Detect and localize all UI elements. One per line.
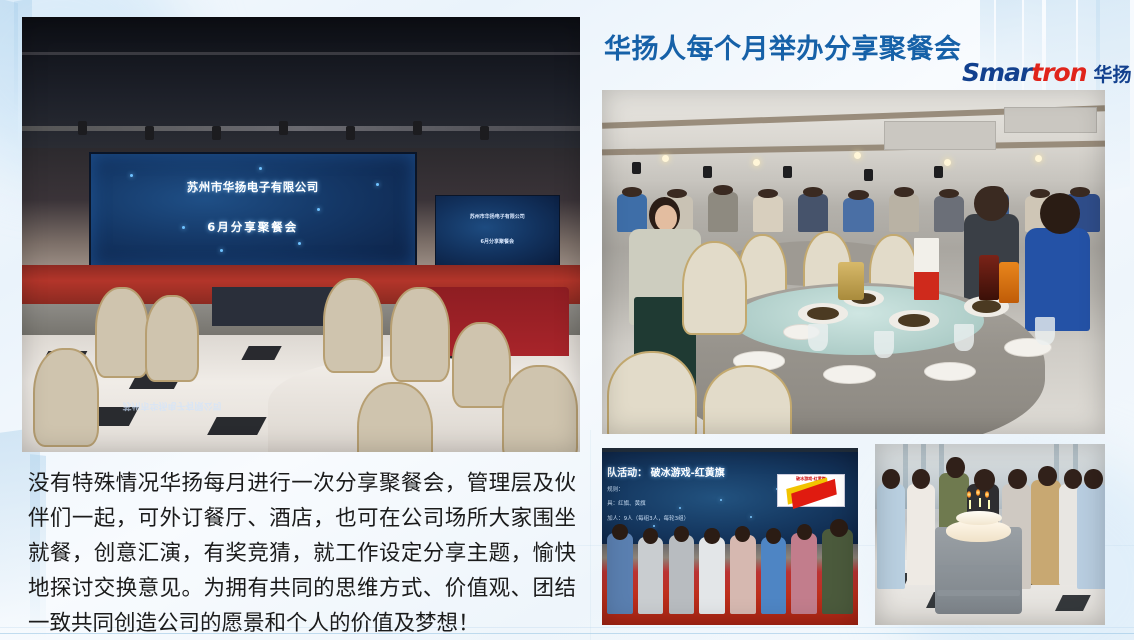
logo-text-chinese: 华扬 [1094,60,1132,87]
floor-reflection-text: 苏州市华扬电子有限公司 [122,400,221,413]
cake-scene [875,444,1105,625]
server-face [655,205,677,231]
cart-shelf [937,565,1019,571]
table-card [914,238,939,300]
participant-head [797,524,812,540]
hall-chair [502,365,579,452]
side-screen-line-2: 6月分享聚餐会 [436,238,559,245]
hall-truss-1 [22,52,580,55]
stage-light-7 [480,126,489,140]
icebreaker-screen-title: 队活动： 破冰游戏-红黄旗 [607,464,725,479]
participant-head [674,526,689,542]
photo-icebreaker-game: 队活动： 破冰游戏-红黄旗 规则： 具：红旗、黄旗 加人：9人（每组3人，每轮3… [602,448,858,625]
stage-light-5 [346,126,355,140]
guest-head [1040,193,1080,234]
banquet-ceiling [602,90,1105,179]
participant [638,537,664,615]
bg-line-mid [590,430,591,640]
attendee-head [1008,469,1026,489]
participant [822,529,853,614]
led-screen-side: 苏州市华扬电子有限公司 6月分享聚餐会 [435,195,560,267]
icebreaker-screen-line-2: 具：红旗、黄旗 [607,499,646,507]
icebreaker-screen-line-1: 规则： [607,485,624,493]
participant [730,535,756,615]
floor-tile [241,346,282,360]
beer-pitcher [838,262,863,300]
participant-head [612,524,627,540]
drinking-glass [1035,317,1055,345]
cake-candle [988,500,990,509]
logo-text-accent: tron [1031,58,1086,87]
hall-chair [323,278,383,373]
led-screen-line-1: 苏州市华扬电子有限公司 [91,179,415,195]
participant [791,533,817,614]
stage-light-2 [145,126,154,140]
drinking-glass [874,331,894,359]
led-screen-line-2: 6月分享聚餐会 [91,219,415,235]
cart-shelf [937,590,1019,596]
participant-head [766,528,781,544]
caption-paragraph: 没有特殊情况华扬每月进行一次分享聚餐会，管理层及伙伴们一起，可外订餐厅、酒店，也… [28,466,576,640]
banquet-scene [602,90,1105,434]
stage-light-6 [413,121,422,135]
attendee-head [1084,469,1102,489]
hall-chair [357,382,434,452]
floor-tile [207,417,267,435]
logo-text-primary: Smar [962,58,1031,87]
background-chair [682,241,746,334]
cola-bottle [979,255,999,300]
icebreaker-screen-line-3: 加人：9人（每组3人，每轮3组） [607,514,689,522]
stage-light-3 [212,126,221,140]
brand-logo: Smartron 华扬 [962,58,1132,87]
participant-head [830,519,848,537]
led-screen-main: 苏州市华扬电子有限公司 6月分享聚餐会 [89,152,417,269]
dish-plate [889,310,939,331]
participant-head [704,528,719,544]
floor-tile [1055,595,1090,611]
cake-candle [969,500,971,509]
orange-bottle [999,262,1019,303]
attendee-head [946,457,964,479]
attendee-head [1038,466,1056,486]
hall-chair [145,295,199,382]
hall-podium-table [212,287,335,326]
icebreaker-screen: 队活动： 破冰游戏-红黄旗 规则： 具：红旗、黄旗 加人：9人（每组3人，每轮3… [602,452,858,544]
drinking-glass [808,324,828,352]
ceiling-panel [884,121,997,151]
side-screen-line-1: 苏州市华扬电子有限公司 [436,213,559,220]
hall-truss-2 [22,126,580,131]
bg-shard-1 [0,0,18,153]
photo-birthday-cake [875,444,1105,625]
participant [761,537,787,615]
participant-head [643,528,658,544]
participant [699,537,725,615]
attendee [1077,484,1105,589]
hall-chair [33,348,98,448]
guest-head [974,186,1009,220]
guest-blue-shirt [1025,228,1090,331]
hall-chair [390,287,450,382]
photo-empty-banquet-hall: 苏州市华扬电子有限公司 6月分享聚餐会 苏州市华扬电子有限公司 6月分享聚餐会 … [22,17,580,452]
page-title: 华扬人每个月举办分享聚餐会 [604,27,962,66]
attendee [877,484,905,589]
foreground-chair [703,365,793,434]
attendee-head [974,469,995,491]
stage-light-1 [78,121,87,135]
icebreaker-flag-image: 破冰游戏-红黄旗 [777,474,846,507]
slide-root: 华扬人每个月举办分享聚餐会 Smartron 华扬 [0,0,1134,640]
table-plate [924,362,976,381]
foreground-chair [607,351,697,434]
attendee [907,484,935,585]
icebreaker-scene: 队活动： 破冰游戏-红黄旗 规则： 具：红旗、黄旗 加人：9人（每组3人，每轮3… [602,448,858,625]
ceiling-panel [1004,107,1097,133]
hall-chair [452,322,512,409]
participant [669,535,695,615]
dish-plate [798,303,848,324]
cake-candle [979,498,981,507]
hall-chair [95,287,149,378]
stage-light-4 [279,121,288,135]
drinking-glass [954,324,974,352]
candle-flame [967,491,971,498]
hall-scene: 苏州市华扬电子有限公司 6月分享聚餐会 苏州市华扬电子有限公司 6月分享聚餐会 … [22,17,580,452]
attendee [1031,480,1061,585]
photo-banquet-dining [602,90,1105,434]
participant [607,533,633,614]
